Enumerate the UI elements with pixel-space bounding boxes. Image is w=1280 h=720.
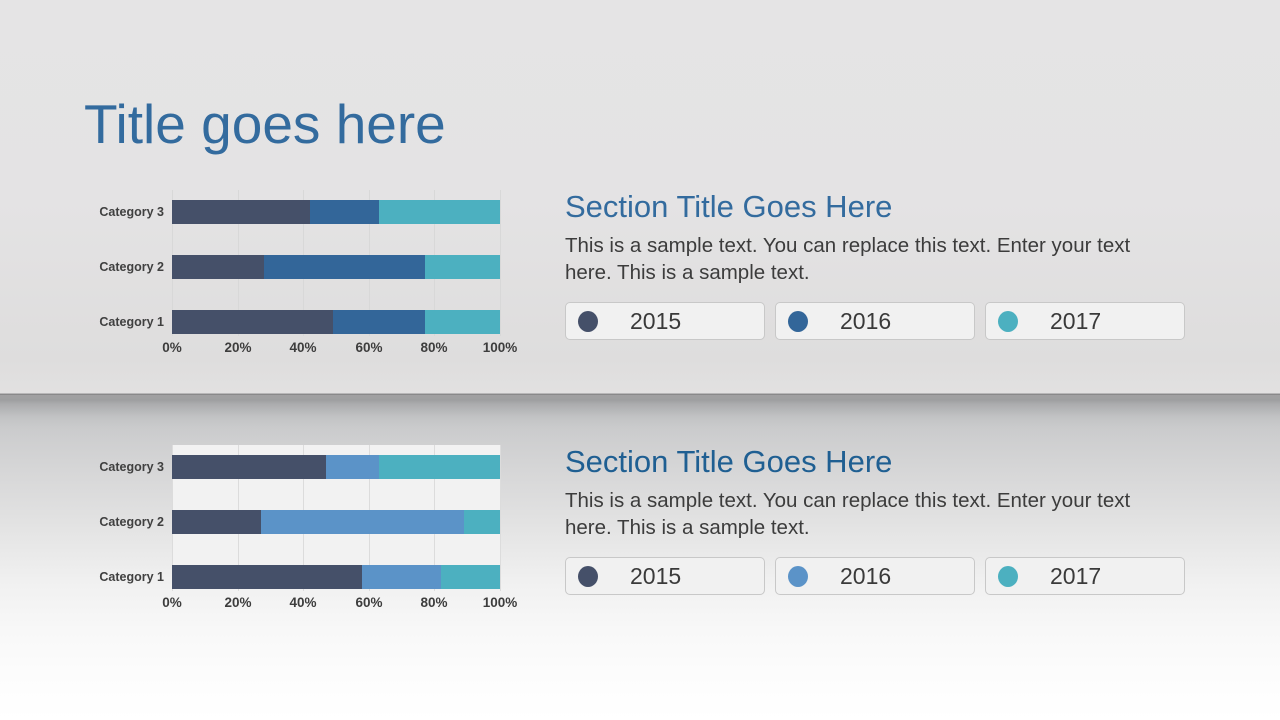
chart-bar-segment-2016 [362,565,441,589]
chart-gridline [500,190,501,336]
chart-x-tick-label: 100% [483,595,518,610]
chart-bar-segment-2017 [425,310,500,334]
chart-bar-segment-2017 [379,200,500,224]
legend-label: 2016 [840,310,891,333]
chart-bar-segment-2017 [425,255,500,279]
legend-color-dot-icon [998,311,1018,332]
panel-top: Title goes here Category 3Category 2Cate… [0,0,1280,394]
page-title: Title goes here [84,92,446,156]
chart-x-tick-label: 20% [224,340,251,355]
content-block-bottom: Section Title Goes Here This is a sample… [565,443,1205,595]
legend-chip-2015[interactable]: 2015 [565,557,765,595]
chart-bar-row [172,455,500,479]
legend-chip-2016[interactable]: 2016 [775,302,975,340]
chart-bar-row [172,255,500,279]
content-block-top: Section Title Goes Here This is a sample… [565,188,1205,340]
chart-bottom-plot-area [172,445,500,591]
chart-x-tick-label: 20% [224,595,251,610]
section-title-top: Section Title Goes Here [565,188,1205,226]
chart-bar-segment-2015 [172,455,326,479]
chart-x-tick-label: 100% [483,340,518,355]
chart-top-stacked-bar: Category 3Category 2Category 1 0%20%40%6… [80,190,520,380]
chart-bar-row [172,565,500,589]
chart-top-plot-region: Category 3Category 2Category 1 [80,190,520,350]
chart-bar-segment-2015 [172,565,362,589]
chart-bar-row [172,310,500,334]
chart-x-tick-label: 40% [289,595,316,610]
chart-bar-segment-2017 [441,565,500,589]
chart-x-tick-label: 40% [289,340,316,355]
legend-color-dot-icon [998,566,1018,587]
chart-bottom-stacked-bar: Category 3Category 2Category 1 0%20%40%6… [80,445,520,635]
chart-x-tick-label: 60% [355,340,382,355]
chart-category-label: Category 1 [80,565,164,589]
chart-bottom-x-axis: 0%20%40%60%80%100% [172,595,500,617]
legend-top: 201520162017 [565,302,1205,340]
legend-chip-2015[interactable]: 2015 [565,302,765,340]
chart-bar-segment-2015 [172,200,310,224]
chart-top-plot-area [172,190,500,336]
chart-bar-segment-2017 [464,510,500,534]
chart-bar-segment-2016 [264,255,425,279]
legend-color-dot-icon [578,311,598,332]
chart-x-tick-label: 0% [162,595,182,610]
chart-category-label: Category 3 [80,200,164,224]
chart-category-label: Category 3 [80,455,164,479]
chart-x-tick-label: 80% [420,595,447,610]
slide-canvas: Title goes here Category 3Category 2Cate… [0,0,1280,720]
legend-color-dot-icon [788,566,808,587]
chart-bar-segment-2015 [172,510,261,534]
legend-chip-2017[interactable]: 2017 [985,302,1185,340]
chart-top-x-axis: 0%20%40%60%80%100% [172,340,500,362]
chart-category-label: Category 2 [80,255,164,279]
chart-bottom-plot-region: Category 3Category 2Category 1 [80,445,520,605]
legend-chip-2016[interactable]: 2016 [775,557,975,595]
chart-bar-row [172,200,500,224]
legend-label: 2015 [630,310,681,333]
chart-bar-segment-2015 [172,310,333,334]
legend-label: 2017 [1050,310,1101,333]
legend-color-dot-icon [788,311,808,332]
chart-bar-row [172,510,500,534]
chart-category-label: Category 1 [80,310,164,334]
legend-label: 2016 [840,565,891,588]
chart-gridline [500,445,501,591]
section-body-top: This is a sample text. You can replace t… [565,232,1155,286]
chart-category-label: Category 2 [80,510,164,534]
chart-bar-segment-2016 [310,200,379,224]
chart-bar-segment-2016 [333,310,425,334]
legend-label: 2015 [630,565,681,588]
chart-bar-segment-2015 [172,255,264,279]
legend-bottom: 201520162017 [565,557,1205,595]
chart-x-tick-label: 80% [420,340,447,355]
chart-x-tick-label: 0% [162,340,182,355]
chart-bar-segment-2016 [261,510,464,534]
section-body-bottom: This is a sample text. You can replace t… [565,487,1155,541]
legend-color-dot-icon [578,566,598,587]
chart-x-tick-label: 60% [355,595,382,610]
legend-chip-2017[interactable]: 2017 [985,557,1185,595]
section-title-bottom: Section Title Goes Here [565,443,1205,481]
legend-label: 2017 [1050,565,1101,588]
chart-bar-segment-2017 [379,455,500,479]
chart-bar-segment-2016 [326,455,378,479]
